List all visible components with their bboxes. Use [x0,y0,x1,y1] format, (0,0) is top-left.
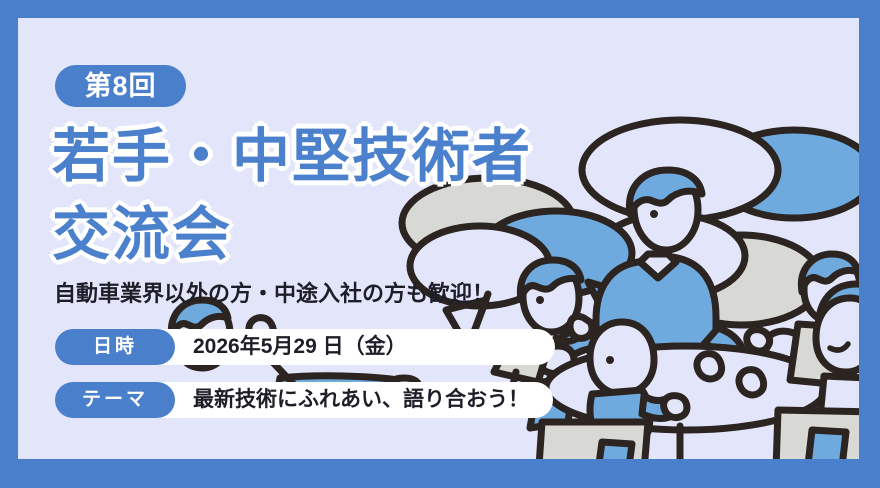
title-line-1: 若手・中堅技術者 [52,124,532,189]
page-title: 若手・中堅技術者 交流会 [52,118,572,274]
round-table [546,346,826,459]
poster-frame: .ln{fill:none;stroke:#2B2420;stroke-widt… [0,0,880,488]
edition-badge: 第8回 [55,65,186,107]
info-value-theme: 最新技術にふれあい、語り合おう！ [193,382,529,418]
info-label-date: 日時 [55,329,175,365]
subtitle: 自動車業界以外の方・中途入社の方も歓迎！ [54,276,494,308]
info-label-theme: テーマ [55,382,175,418]
info-value-date: 2026年5月29 日（金） [193,329,407,365]
person-seated-right [766,284,859,459]
title-line-2: 交流会 [52,196,572,274]
person-back-right [747,254,859,386]
text-content-block: 第8回 若手・中堅技術者 交流会 自動車業界以外の方・中途入社の方も歓迎！ 日時… [18,18,578,459]
poster-inner: .ln{fill:none;stroke:#2B2420;stroke-widt… [18,18,859,459]
